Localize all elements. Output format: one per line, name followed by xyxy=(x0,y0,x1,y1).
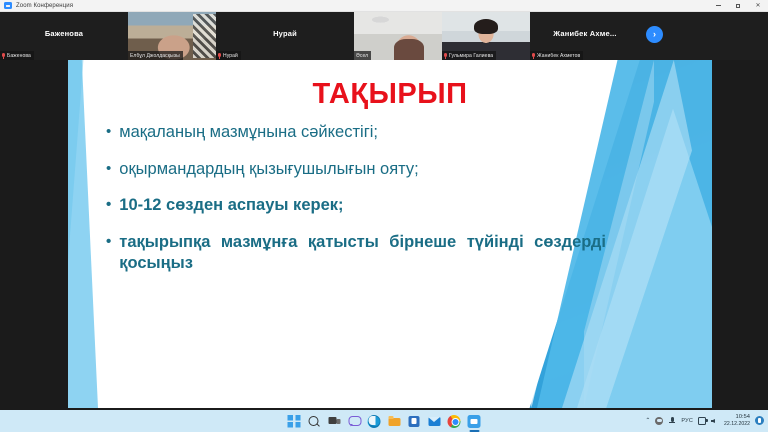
participant-tile[interactable]: Баженова Баженова xyxy=(0,12,128,60)
zoom-app-icon xyxy=(4,2,12,9)
video-strip-pager: › xyxy=(640,12,768,60)
participant-name-label: Баженова xyxy=(7,53,31,59)
participant-tile[interactable]: Гульмира Галиева xyxy=(442,12,530,60)
participant-name-bar: Әсел xyxy=(354,51,371,60)
battery-icon[interactable] xyxy=(698,417,706,425)
shared-screen-stage: ТАҚЫРЫП • мақаланың мазмұнына сәйкестігі… xyxy=(0,60,768,410)
bullet-text: мақаланың мазмұнына сәйкестігі; xyxy=(119,122,606,143)
participant-center-name: Баженова xyxy=(45,29,83,38)
participant-name-bar: Баженова xyxy=(0,51,34,60)
file-explorer-icon[interactable] xyxy=(388,415,401,428)
participant-center-name: Жанибек Ахме... xyxy=(553,29,616,38)
participant-name-bar: Жанибек Ахметов xyxy=(530,51,583,60)
taskbar-icon-group xyxy=(288,415,481,428)
zoom-meeting-window: Zoom Конференция ✕ Баженова Баженова Елб… xyxy=(0,0,768,432)
bullet-text: 10-12 сөзден аспауы керек; xyxy=(119,195,606,216)
participant-tile[interactable]: Әсел xyxy=(354,12,442,60)
slide-bullet-item: • 10-12 сөзден аспауы керек; xyxy=(106,195,606,216)
participant-name-label: Гульмира Галиева xyxy=(449,53,493,59)
participant-tile[interactable]: Елбұл Джолдасқызы xyxy=(128,12,216,60)
slide-title: ТАҚЫРЫП xyxy=(68,78,712,111)
participant-name-bar: Нурай xyxy=(216,51,241,60)
mic-muted-icon xyxy=(2,53,5,58)
participant-name-label: Әсел xyxy=(356,53,368,59)
language-indicator[interactable]: РУС xyxy=(681,418,693,424)
slide-bullet-list: • мақаланың мазмұнына сәйкестігі; • оқыр… xyxy=(106,122,606,289)
mic-muted-icon xyxy=(218,53,221,58)
participant-name-label: Нурай xyxy=(223,53,238,59)
participant-center-name: Нурай xyxy=(273,29,297,38)
next-page-chevron-right-icon[interactable]: › xyxy=(646,26,663,43)
start-icon[interactable] xyxy=(288,415,301,428)
slide-bullet-item: • тақырыпқа мазмұнға қатысты бірнеше түй… xyxy=(106,232,606,273)
mail-icon[interactable] xyxy=(428,415,441,428)
bullet-marker-icon: • xyxy=(106,122,111,142)
system-tray: ⌃ РУС 10:54 22.12.2022 xyxy=(645,414,764,428)
windows-taskbar: ⌃ РУС 10:54 22.12.2022 xyxy=(0,410,768,432)
window-title-bar: Zoom Конференция ✕ xyxy=(0,0,768,12)
microsoft-store-icon[interactable] xyxy=(408,415,421,428)
window-controls: ✕ xyxy=(708,0,768,12)
bullet-text: тақырыпқа мазмұнға қатысты бірнеше түйін… xyxy=(119,232,606,273)
chat-icon[interactable] xyxy=(348,415,361,428)
bullet-marker-icon: • xyxy=(106,195,111,215)
zoom-taskbar-icon[interactable] xyxy=(468,415,481,428)
chrome-browser-icon[interactable] xyxy=(448,415,461,428)
bullet-marker-icon: • xyxy=(106,232,111,252)
slide-bullet-item: • мақаланың мазмұнына сәйкестігі; xyxy=(106,122,606,143)
mic-muted-icon xyxy=(532,53,535,58)
volume-icon[interactable] xyxy=(711,417,719,425)
task-view-icon[interactable] xyxy=(328,415,341,428)
close-icon[interactable]: ✕ xyxy=(748,0,768,12)
clock[interactable]: 10:54 22.12.2022 xyxy=(724,414,750,428)
participant-tile[interactable]: Нурай Нурай xyxy=(216,12,354,60)
participant-name-label: Жанибек Ахметов xyxy=(537,53,580,59)
edge-browser-icon[interactable] xyxy=(368,415,381,428)
search-icon[interactable] xyxy=(308,415,321,428)
slide-content: ТАҚЫРЫП • мақаланың мазмұнына сәйкестігі… xyxy=(68,60,712,408)
bullet-marker-icon: • xyxy=(106,159,111,179)
participant-name-bar: Гульмира Галиева xyxy=(442,51,496,60)
show-hidden-icons-chevron-up-icon[interactable]: ⌃ xyxy=(645,418,650,424)
cloud-sync-icon[interactable] xyxy=(655,417,663,425)
participant-name-bar: Елбұл Джолдасқызы xyxy=(128,51,183,60)
microphone-icon[interactable] xyxy=(668,417,676,425)
mic-muted-icon xyxy=(444,53,447,58)
notification-center-icon[interactable] xyxy=(755,416,764,425)
window-title: Zoom Конференция xyxy=(16,0,73,12)
participant-name-label: Елбұл Джолдасқызы xyxy=(130,53,180,59)
maximize-button[interactable] xyxy=(728,0,748,12)
participant-tile[interactable]: Жанибек Ахме... Жанибек Ахметов xyxy=(530,12,640,60)
presentation-slide: ТАҚЫРЫП • мақаланың мазмұнына сәйкестігі… xyxy=(68,60,712,408)
slide-bullet-item: • оқырмандардың қызығушылығын ояту; xyxy=(106,159,606,180)
minimize-button[interactable] xyxy=(708,0,728,12)
clock-time: 10:54 xyxy=(724,414,750,421)
bullet-text: оқырмандардың қызығушылығын ояту; xyxy=(119,159,606,180)
clock-date: 22.12.2022 xyxy=(724,421,750,428)
participant-video-strip: Баженова Баженова Елбұл Джолдасқызы Нура… xyxy=(0,12,768,60)
